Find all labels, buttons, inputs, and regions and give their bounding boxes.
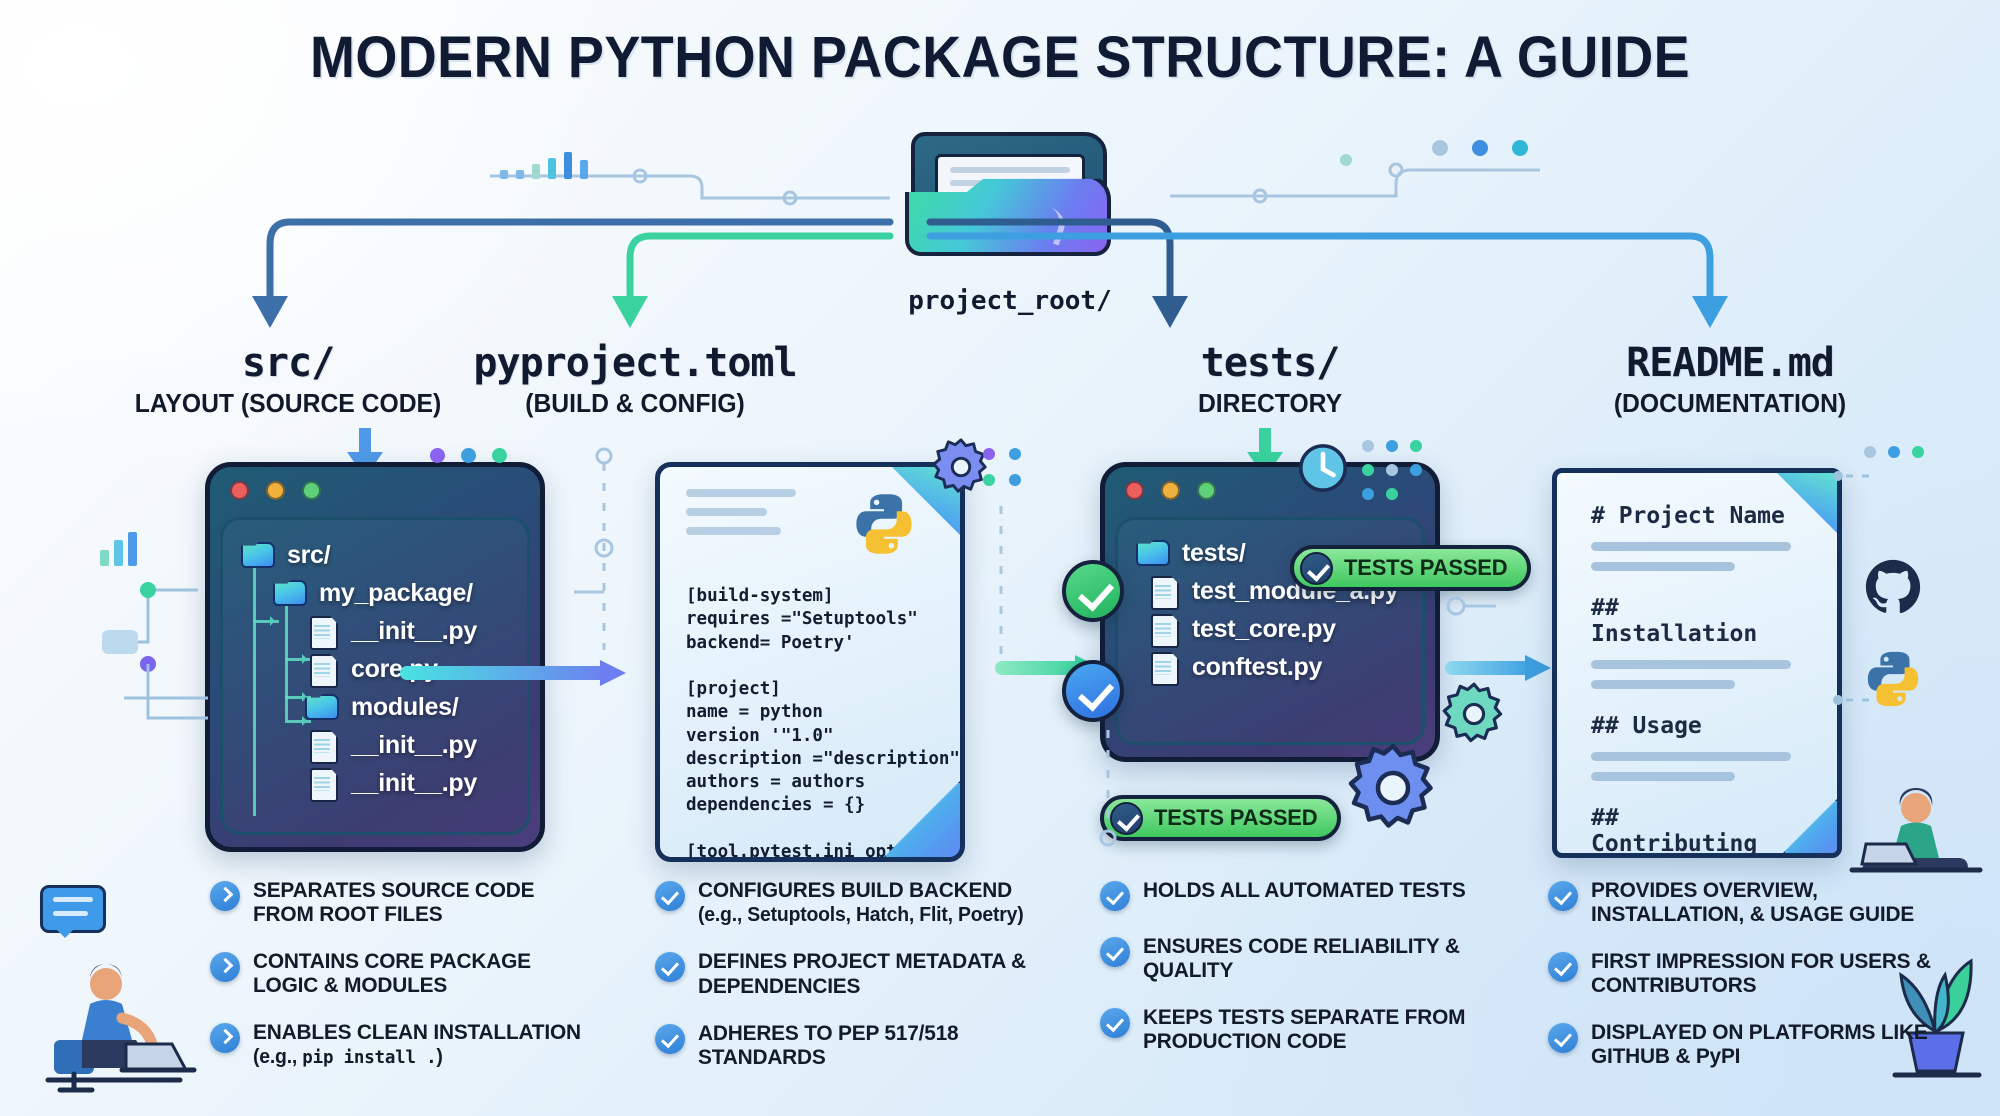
speech-bubble-icon — [40, 885, 106, 933]
project-root-label: project_root/ — [835, 286, 1185, 316]
file-icon — [305, 730, 339, 760]
tree-row[interactable]: conftest.py — [1136, 648, 1408, 686]
flow-arrow-src-to-pyproject — [400, 660, 630, 686]
text-line — [1591, 660, 1791, 669]
column-title: README.md — [1520, 340, 1940, 386]
readme-heading: ## Contributing — [1591, 805, 1791, 857]
src-window: src/ my_package/ __init__.py core.py mod… — [205, 462, 545, 852]
bullet-item: ENSURES CODE RELIABILITY & QUALITY — [1100, 934, 1500, 982]
text-line — [1591, 542, 1791, 551]
github-icon — [1862, 556, 1924, 618]
tree-row[interactable]: test_core.py — [1136, 610, 1408, 648]
bullet-text-compound: ENABLES CLEAN INSTALLATION (e.g., pip in… — [253, 1020, 581, 1068]
window-close-dot[interactable] — [1125, 481, 1144, 500]
bullet-item: PROVIDES OVERVIEW, INSTALLATION, & USAGE… — [1548, 878, 1948, 926]
circuit-decoration-left — [490, 150, 920, 220]
file-icon — [1146, 614, 1180, 644]
tree-row-label: __init__.py — [351, 769, 477, 798]
page-title: MODERN PYTHON PACKAGE STRUCTURE: A GUIDE — [70, 24, 1930, 91]
window-minimize-dot[interactable] — [1161, 481, 1180, 500]
circuit-decoration-card1 — [88, 578, 218, 758]
tree-row-label: conftest.py — [1192, 653, 1322, 682]
python-icon-side — [1862, 648, 1924, 710]
bullet-item: ADHERES TO PEP 517/518 STANDARDS — [655, 1021, 1055, 1069]
text-line — [1591, 772, 1735, 781]
bullet-text: ENABLES CLEAN INSTALLATION — [253, 1020, 581, 1044]
tree-row-label: __init__.py — [351, 731, 477, 760]
bullet-text: FIRST IMPRESSION FOR USERS & CONTRIBUTOR… — [1591, 949, 1937, 997]
readme-heading: ## Installation — [1591, 595, 1791, 647]
bullet-item: SEPARATES SOURCE CODE FROM ROOT FILES — [210, 878, 610, 926]
folder-icon — [305, 692, 339, 722]
bullet-item: DISPLAYED ON PLATFORMS LIKE GITHUB & PyP… — [1548, 1020, 1948, 1068]
folder-icon — [273, 578, 307, 608]
bullets-pyproject: CONFIGURES BUILD BACKEND (e.g., Setuptoo… — [655, 878, 1055, 1092]
bullet-text: CONFIGURES BUILD BACKEND — [698, 878, 1012, 902]
check-circle-icon — [655, 881, 685, 911]
tree-row[interactable]: modules/ — [241, 688, 513, 726]
person-with-laptop-illustration — [30, 948, 200, 1098]
folder-icon — [1136, 538, 1170, 568]
text-line — [1591, 680, 1735, 689]
check-icon — [1300, 552, 1333, 585]
bullet-text: KEEPS TESTS SEPARATE FROM PRODUCTION COD… — [1143, 1005, 1489, 1053]
bullet-text: ENSURES CODE RELIABILITY & QUALITY — [1143, 934, 1489, 982]
file-icon — [305, 616, 339, 646]
chevron-right-icon — [210, 881, 240, 911]
chevron-right-icon — [210, 952, 240, 982]
status-badge-tests-passed-bottom: TESTS PASSED — [1100, 795, 1341, 841]
tree-row[interactable]: __init__.py — [241, 612, 513, 650]
column-header-readme: README.md (DOCUMENTATION) — [1520, 340, 1940, 419]
pyproject-code-block: [build-system] requires ="Setuptools" ba… — [686, 585, 946, 862]
check-circle-icon — [1100, 881, 1130, 911]
column-subtitle: DIRECTORY — [1071, 388, 1470, 419]
readme-heading: ## Usage — [1591, 713, 1791, 739]
project-root-folder-icon — [905, 132, 1115, 272]
file-icon — [305, 768, 339, 798]
window-titlebar — [210, 467, 540, 513]
pyproject-document: [build-system] requires ="Setuptools" ba… — [655, 462, 965, 862]
page-fold-corner-top — [889, 464, 963, 538]
card-readme: # Project Name ## Installation ## Usage … — [1552, 468, 1842, 858]
file-icon — [1146, 652, 1180, 682]
folder-icon — [241, 540, 275, 570]
bullets-src: SEPARATES SOURCE CODE FROM ROOT FILES CO… — [210, 878, 610, 1092]
window-close-dot[interactable] — [230, 481, 249, 500]
tree-row-label: __init__.py — [351, 617, 477, 646]
check-icon — [1110, 802, 1143, 835]
bullet-note-prefix: (e.g., — [253, 1046, 302, 1068]
check-circle-icon — [655, 1024, 685, 1054]
text-line — [1591, 562, 1735, 571]
bullets-tests: HOLDS ALL AUTOMATED TESTS ENSURES CODE R… — [1100, 878, 1500, 1076]
bullet-text: DISPLAYED ON PLATFORMS LIKE GITHUB & PyP… — [1591, 1020, 1937, 1068]
node-decoration-tests — [1440, 590, 1500, 650]
card-pyproject: [build-system] requires ="Setuptools" ba… — [655, 462, 965, 862]
check-circle-icon — [1548, 952, 1578, 982]
window-maximize-dot[interactable] — [302, 481, 321, 500]
document-header-lines — [686, 489, 796, 546]
dots-decoration-src — [430, 448, 507, 463]
check-circle-icon — [655, 952, 685, 982]
check-circle-icon — [1548, 881, 1578, 911]
tests-window: tests/ test_module_a.py test_core.py con… — [1100, 462, 1440, 762]
bullet-item: ENABLES CLEAN INSTALLATION (e.g., pip in… — [210, 1020, 610, 1068]
column-header-pyproject: pyproject.toml (BUILD & CONFIG) — [425, 340, 845, 419]
bullet-item: DEFINES PROJECT METADATA & DEPENDENCIES — [655, 949, 1055, 997]
person-sitting-illustration — [1828, 782, 1998, 892]
column-title: tests/ — [1060, 340, 1480, 386]
bullet-text: PROVIDES OVERVIEW, INSTALLATION, & USAGE… — [1591, 878, 1937, 926]
bullet-text: DEFINES PROJECT METADATA & DEPENDENCIES — [698, 949, 1044, 997]
status-badge-label: TESTS PASSED — [1154, 805, 1317, 831]
file-icon — [1146, 576, 1180, 606]
window-maximize-dot[interactable] — [1197, 481, 1216, 500]
bullet-text-compound: CONFIGURES BUILD BACKEND (e.g., Setuptoo… — [698, 878, 1023, 926]
tree-row[interactable]: __init__.py — [241, 726, 513, 764]
check-circle-icon — [1100, 937, 1130, 967]
bullet-note: (e.g., Setuptools, Hatch, Flit, Poetry) — [698, 904, 1023, 926]
bullet-item: KEEPS TESTS SEPARATE FROM PRODUCTION COD… — [1100, 1005, 1500, 1053]
bullet-item: CONFIGURES BUILD BACKEND (e.g., Setuptoo… — [655, 878, 1055, 926]
readme-heading: # Project Name — [1591, 503, 1791, 529]
bullet-note-code: pip install . — [302, 1047, 436, 1068]
bullets-readme: PROVIDES OVERVIEW, INSTALLATION, & USAGE… — [1548, 878, 1948, 1091]
tests-passed-check-bottom — [1062, 660, 1124, 722]
column-header-tests: tests/ DIRECTORY — [1060, 340, 1480, 419]
status-badge-tests-passed-top: TESTS PASSED — [1290, 545, 1531, 591]
tests-passed-check-top — [1062, 560, 1124, 622]
window-titlebar — [1105, 467, 1435, 513]
file-icon — [305, 654, 339, 684]
dotted-connector-decoration-right — [975, 436, 1045, 736]
tree-row-label: modules/ — [351, 693, 458, 722]
dots-decoration-readme — [1860, 440, 1960, 464]
gear-icon-small — [1440, 680, 1508, 748]
bullet-text: SEPARATES SOURCE CODE FROM ROOT FILES — [253, 878, 599, 926]
bullet-item: HOLDS ALL AUTOMATED TESTS — [1100, 878, 1500, 911]
circuit-decoration-right — [1110, 140, 1540, 220]
bullet-text: ADHERES TO PEP 517/518 STANDARDS — [698, 1021, 1044, 1069]
status-badge-label: TESTS PASSED — [1344, 555, 1507, 581]
column-subtitle: (BUILD & CONFIG) — [436, 388, 835, 419]
bullet-note-suffix: ) — [436, 1046, 442, 1068]
flow-arrow-tests-to-readme — [1445, 655, 1555, 681]
tree-row-label: src/ — [287, 541, 330, 570]
tree-row-label: test_core.py — [1192, 615, 1336, 644]
tree-row[interactable]: __init__.py — [241, 764, 513, 802]
check-circle-icon — [1548, 1023, 1578, 1053]
bar-chart-decoration — [100, 530, 137, 566]
column-title: pyproject.toml — [425, 340, 845, 386]
tree-row-label: my_package/ — [319, 579, 473, 608]
tree-row-label: tests/ — [1182, 539, 1246, 568]
bullet-item: FIRST IMPRESSION FOR USERS & CONTRIBUTOR… — [1548, 949, 1948, 997]
tree-row[interactable]: my_package/ — [241, 574, 513, 612]
text-line — [1591, 752, 1791, 761]
bullet-item: CONTAINS CORE PACKAGE LOGIC & MODULES — [210, 949, 610, 997]
check-circle-icon — [1100, 1008, 1130, 1038]
bullet-text: HOLDS ALL AUTOMATED TESTS — [1143, 878, 1466, 902]
readme-document: # Project Name ## Installation ## Usage … — [1552, 468, 1842, 858]
card-tests: tests/ test_module_a.py test_core.py con… — [1100, 462, 1440, 762]
bullet-text: CONTAINS CORE PACKAGE LOGIC & MODULES — [253, 949, 599, 997]
chevron-right-icon — [210, 1023, 240, 1053]
readme-content: # Project Name ## Installation ## Usage … — [1591, 503, 1791, 858]
column-subtitle: (DOCUMENTATION) — [1531, 388, 1930, 419]
card-src: src/ my_package/ __init__.py core.py mod… — [205, 462, 545, 852]
window-minimize-dot[interactable] — [266, 481, 285, 500]
tree-row[interactable]: src/ — [241, 536, 513, 574]
